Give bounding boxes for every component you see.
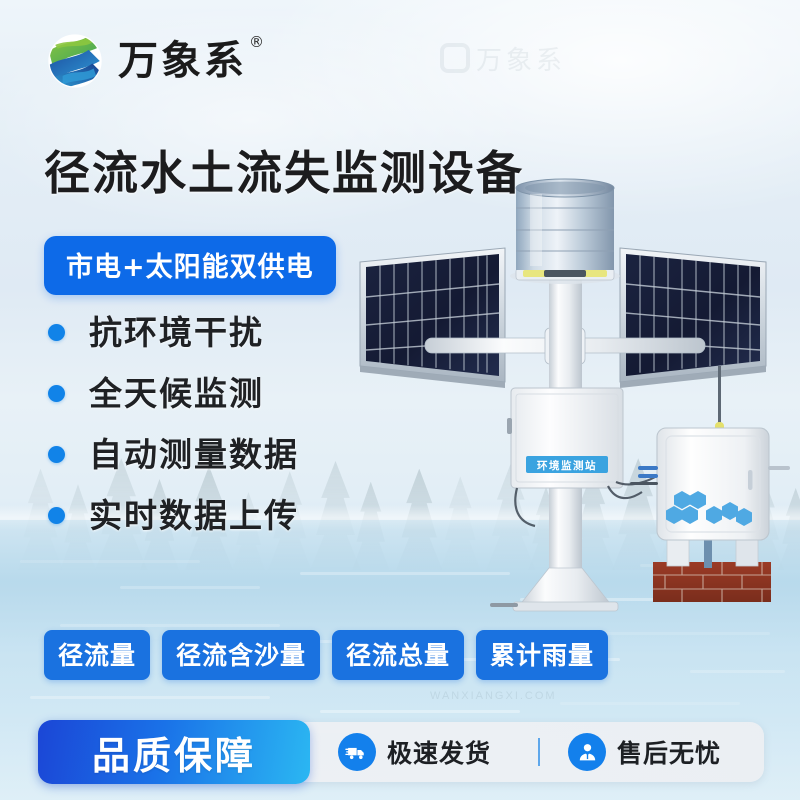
quality-guarantee-pill: 品质保障 (38, 720, 310, 784)
globe-swirl-logo-icon (44, 30, 106, 92)
bullet-dot-icon (48, 385, 65, 402)
brand-watermark: 万象系 (440, 36, 630, 80)
footer-watermark: WANXIANGXI.COM (430, 690, 690, 706)
service-label: 售后无忧 (617, 734, 721, 770)
lake-surface-streak (690, 670, 785, 673)
brand-name-text: 万象系 (118, 38, 247, 84)
customer-service-person-icon (568, 733, 606, 771)
feature-item: 实时数据上传 (48, 499, 299, 532)
brand-logo-row: 万象系 ® (44, 30, 247, 92)
product-photo: 环境监测站 (330, 170, 800, 640)
bullet-dot-icon (48, 446, 65, 463)
feature-label: 全天候监测 (89, 377, 264, 410)
quality-guarantee-label: 品质保障 (92, 725, 256, 780)
rain-gauge-cylinder (510, 179, 620, 284)
lake-surface-streak (120, 586, 260, 589)
feature-label: 抗环境干扰 (89, 316, 264, 349)
service-divider (538, 738, 540, 766)
measurement-tag-row: 径流量 径流含沙量 径流总量 累计雨量 (44, 630, 608, 680)
registered-trademark-icon: ® (249, 35, 267, 50)
control-box-label-text: 环境监测站 (537, 459, 597, 472)
measurement-tag: 径流总量 (332, 630, 464, 680)
service-item-after-sales: 售后无忧 (568, 733, 721, 771)
measurement-tag: 累计雨量 (476, 630, 608, 680)
service-item-fast-delivery: 极速发货 (338, 733, 491, 771)
delivery-truck-icon (338, 733, 376, 771)
watermark-text: 万象系 (476, 40, 566, 77)
page-title: 径流水土流失监测设备 (44, 148, 524, 199)
measurement-tag: 径流含沙量 (162, 630, 320, 680)
brand-name: 万象系 ® (118, 41, 247, 81)
lake-surface-streak (20, 560, 200, 563)
bullet-dot-icon (48, 324, 65, 341)
feature-item: 全天候监测 (48, 377, 299, 410)
bullet-dot-icon (48, 507, 65, 524)
feature-label: 自动测量数据 (89, 438, 299, 471)
product-poster: 万象系 WANXIANGXI.COM (0, 0, 800, 800)
solar-panel-right (620, 248, 766, 388)
feature-item: 抗环境干扰 (48, 316, 299, 349)
equipment-cabinet (630, 366, 790, 602)
feature-item: 自动测量数据 (48, 438, 299, 471)
feature-label: 实时数据上传 (89, 499, 299, 532)
watermark-mark-icon (440, 43, 470, 73)
lake-surface-streak (560, 702, 740, 705)
service-guarantee-bar: 品质保障 极速发货 (38, 722, 764, 782)
service-label: 极速发货 (387, 734, 491, 770)
control-box: 环境监测站 (507, 388, 623, 488)
lake-surface-streak (60, 624, 280, 627)
solar-panel-left (360, 248, 505, 388)
power-supply-badge: 市电+太阳能双供电 (44, 236, 336, 295)
lake-surface-streak (320, 710, 520, 713)
measurement-tag: 径流量 (44, 630, 150, 680)
feature-list: 抗环境干扰 全天候监测 自动测量数据 实时数据上传 (48, 316, 299, 532)
lake-surface-streak (30, 696, 270, 699)
